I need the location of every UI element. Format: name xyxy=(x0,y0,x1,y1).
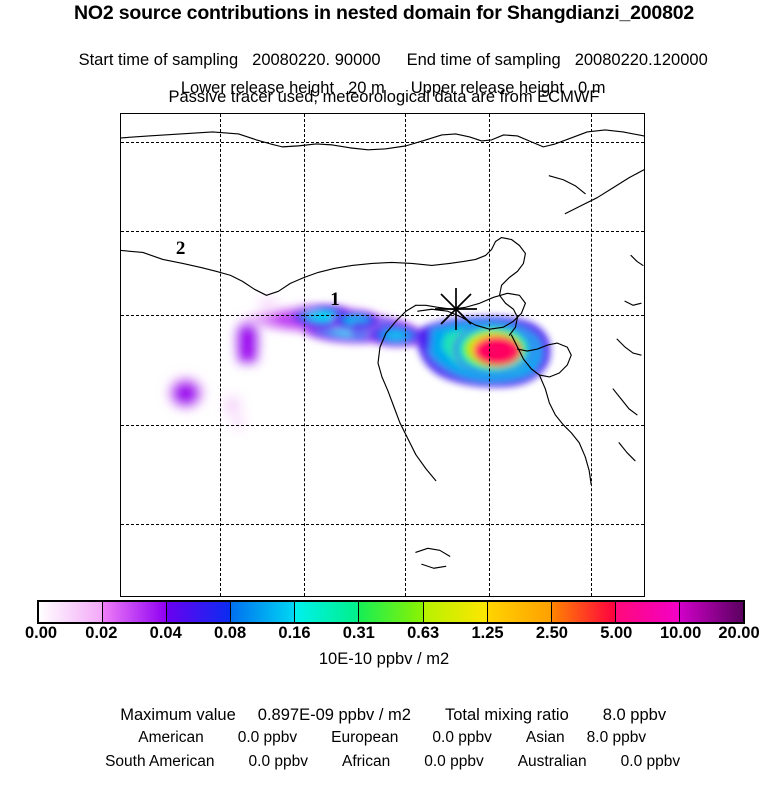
colorbar-tick-11: 20.00 xyxy=(718,624,759,643)
colorbar-segment-3 xyxy=(231,602,295,622)
colorbar-tick-1: 0.02 xyxy=(85,624,117,643)
colorbar-segment-0 xyxy=(39,602,103,622)
region-label-south-american: South American xyxy=(105,753,214,770)
map-label-2: 2 xyxy=(176,239,186,258)
coastline-overlay xyxy=(121,114,644,596)
colorbar-segment-8 xyxy=(552,602,616,622)
colorbar-tick-3: 0.08 xyxy=(214,624,246,643)
map-plot-panel: 2 1 xyxy=(120,113,645,597)
colorbar-segment-4 xyxy=(295,602,359,622)
tracer-note: Passive tracer used, meteorological data… xyxy=(0,88,768,107)
colorbar-segment-2 xyxy=(167,602,231,622)
colorbar-unit-label: 10E-10 ppbv / m2 xyxy=(0,650,768,669)
colorbar-segment-9 xyxy=(616,602,680,622)
map-canvas: 2 1 xyxy=(121,114,644,596)
footer-region-row-2: South American0.0 ppbvAfrican0.0 ppbvAus… xyxy=(0,735,768,789)
colorbar-tick-0: 0.00 xyxy=(25,624,57,643)
colorbar-segment-7 xyxy=(488,602,552,622)
colorbar-tick-7: 1.25 xyxy=(471,624,503,643)
colorbar-tick-5: 0.31 xyxy=(343,624,375,643)
flexpart-plot-page: NO2 source contributions in nested domai… xyxy=(0,0,768,768)
region-value-african: 0.0 ppbv xyxy=(424,753,483,770)
colorbar-segment-10 xyxy=(680,602,743,622)
colorbar-tick-2: 0.04 xyxy=(150,624,182,643)
colorbar-tick-8: 2.50 xyxy=(536,624,568,643)
region-value-australian: 0.0 ppbv xyxy=(621,753,680,770)
release-site-star-icon xyxy=(433,286,479,332)
colorbar-segment-6 xyxy=(424,602,488,622)
colorbar-segment-5 xyxy=(359,602,423,622)
colorbar-tick-9: 5.00 xyxy=(600,624,632,643)
colorbar-tick-4: 0.16 xyxy=(278,624,310,643)
colorbar-tick-10: 10.00 xyxy=(660,624,701,643)
colorbar-segment-1 xyxy=(103,602,167,622)
region-label-australian: Australian xyxy=(518,753,587,770)
map-label-1: 1 xyxy=(330,290,340,309)
colorbar xyxy=(37,600,745,624)
page-title: NO2 source contributions in nested domai… xyxy=(0,2,768,25)
colorbar-tick-6: 0.63 xyxy=(407,624,439,643)
region-value-south-american: 0.0 ppbv xyxy=(249,753,308,770)
colorbar-tick-labels: 0.000.020.040.080.160.310.631.252.505.00… xyxy=(0,624,768,646)
region-label-african: African xyxy=(342,753,390,770)
